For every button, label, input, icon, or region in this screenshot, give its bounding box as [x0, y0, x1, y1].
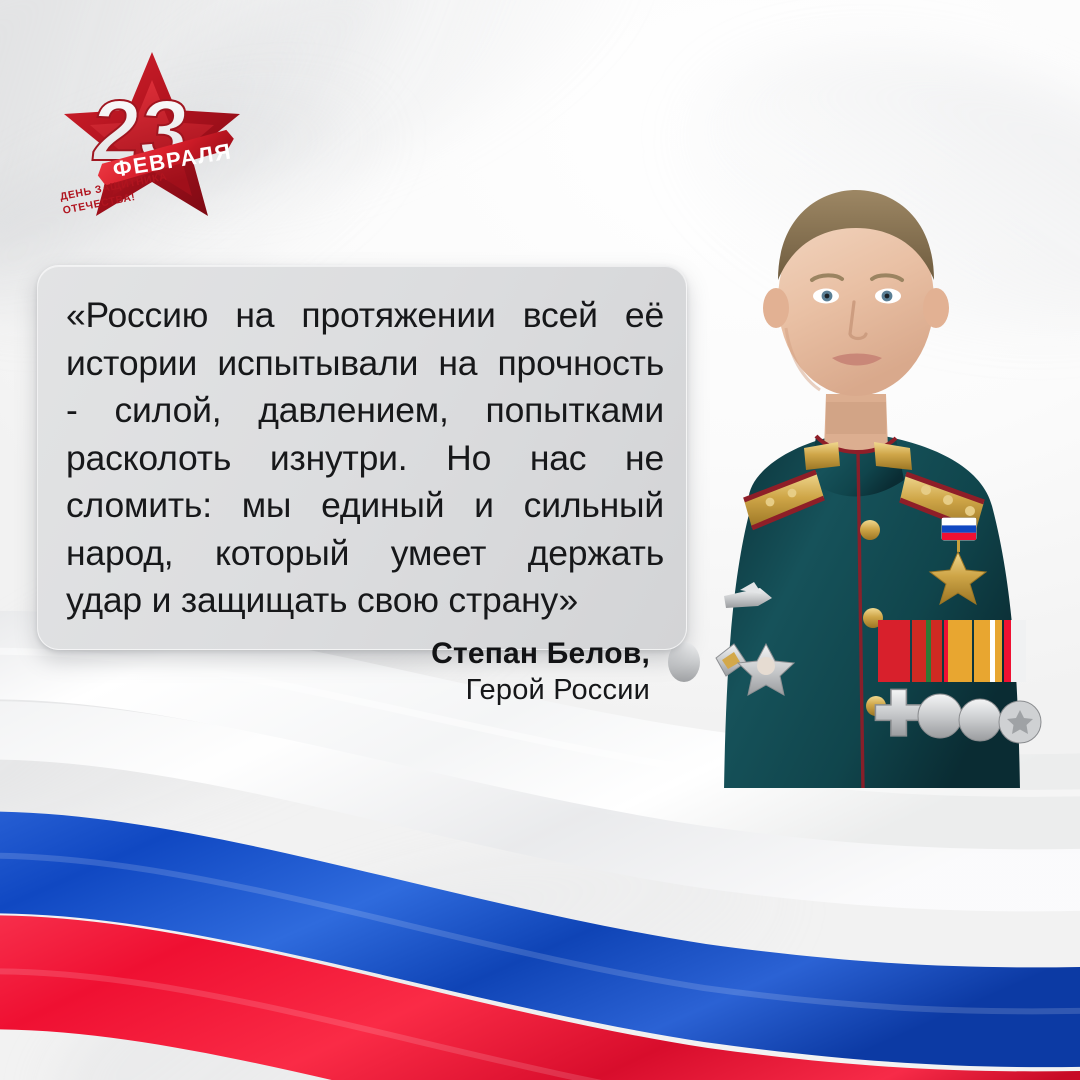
attribution: Степан Белов, Герой России [300, 636, 650, 708]
medal-suvorov [959, 699, 1001, 741]
ear [763, 288, 789, 328]
neck-shadow [826, 402, 886, 434]
23-february-emblem: 23 ФЕВРАЛЯ ДЕНЬ ЗАЩИТНИКА ОТЕЧЕСТВА! [52, 44, 252, 229]
quote-line: сломить: мы единый и сильный [66, 482, 664, 530]
uniform-button [860, 520, 880, 540]
author-role: Герой России [300, 672, 650, 708]
quote-line: народ, который умеет держать [66, 530, 664, 578]
quote-line: истории испытывали на прочность [66, 340, 664, 388]
quote-line: расколоть изнутри. Но нас не [66, 435, 664, 483]
quote-text: «Россию на протяжении всей её истории ис… [66, 292, 664, 625]
poster-canvas: 23 ФЕВРАЛЯ ДЕНЬ ЗАЩИТНИКА ОТЕЧЕСТВА! «Ро… [0, 0, 1080, 1080]
quote-card: «Россию на протяжении всей её истории ис… [37, 265, 687, 650]
pupil [885, 294, 890, 299]
quote-line: - силой, давлением, попытками [66, 387, 664, 435]
quote-line: удар и защищать свою страну» [66, 577, 664, 625]
officer-portrait [620, 150, 1080, 830]
ear [923, 288, 949, 328]
medal-for-bravery [918, 694, 962, 738]
quote-line: «Россию на протяжении всей её [66, 292, 664, 340]
author-name: Степан Белов, [300, 636, 650, 672]
pupil [825, 294, 830, 299]
